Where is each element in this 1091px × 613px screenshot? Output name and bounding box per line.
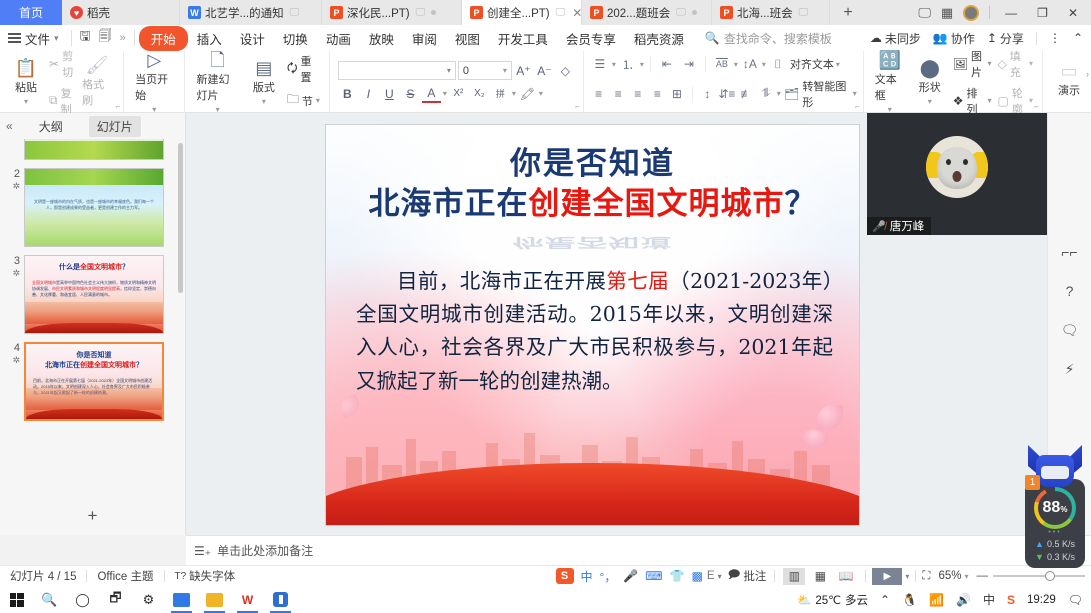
- thumbnail-title: 你是否知道 北海市正在创建全国文明城市？: [26, 350, 162, 370]
- title-reflection: 你是否知道: [326, 234, 859, 253]
- animation-star-icon: ✲: [2, 356, 20, 366]
- sync-status[interactable]: ☁ 未同步: [870, 30, 921, 47]
- body-paragraph: 目前，北海市正在开展第七届（2021-2023年）全国文明城市创建活动。2015…: [356, 265, 833, 398]
- tab-writer-doc[interactable]: W 北艺学...的通知 🖵: [180, 0, 322, 25]
- fit-to-window-button[interactable]: ⛶: [916, 570, 936, 583]
- format-painter-icon: 🖌: [86, 56, 109, 74]
- fill-icon: ◇: [998, 57, 1007, 71]
- chevron-down-icon: ▾: [54, 33, 59, 44]
- thumbnail-item-2[interactable]: 2 ✲ 文明是一座城市的内在气质，也是一座城市的幸福底色。我们每一个人，即是创建…: [0, 164, 185, 251]
- arrange-icon: ❖: [953, 94, 964, 108]
- mascot-visor: [1041, 466, 1069, 479]
- people-icon: 👥: [933, 31, 948, 45]
- font-color-button[interactable]: A: [422, 84, 441, 103]
- tab-ppt-2021[interactable]: P 202...题班会 🖵: [582, 0, 712, 25]
- format-painter-label: 格式刷: [82, 76, 112, 108]
- cut-button[interactable]: ✂ 剪切: [46, 47, 77, 81]
- sync-label: 未同步: [885, 30, 921, 47]
- underline-button[interactable]: U: [380, 84, 399, 103]
- missing-font-label: 缺失字体: [189, 568, 235, 584]
- columns-icon[interactable]: ⊞: [668, 84, 686, 103]
- zoom-level-label[interactable]: 65%▾: [936, 570, 970, 582]
- skyline-art: [25, 302, 163, 324]
- widget-body[interactable]: 88% ••• ▲ 0.5 K/s ▼ 0.3 K/s: [1025, 479, 1085, 568]
- overflow-menu-icon[interactable]: ⋮: [1049, 31, 1061, 45]
- reader-icon[interactable]: [264, 586, 297, 613]
- reset-button[interactable]: 🗘 重置: [284, 52, 323, 86]
- daoke-icon: ♥: [70, 6, 83, 19]
- tab-slideshow[interactable]: 放映: [360, 27, 403, 50]
- quick-action-icon[interactable]: ⚡: [1059, 358, 1081, 380]
- slide-count-label: 幻灯片 4 / 15: [0, 568, 86, 584]
- thumbnail-item-1[interactable]: 1 ✲: [0, 139, 185, 164]
- tab-home[interactable]: 首页: [0, 0, 62, 25]
- weather-desc: 多云: [845, 592, 868, 608]
- wps-ppt-icon: P: [590, 6, 603, 19]
- avatar-eye-right: [963, 159, 968, 165]
- thumbnail-item-4[interactable]: 4 ✲ 你是否知道 北海市正在创建全国文明城市？ 目前，北海市正在开展第七届（2…: [0, 338, 185, 425]
- tab-daoke[interactable]: ♥ 稻壳: [62, 0, 180, 25]
- normal-view-icon[interactable]: ▥: [783, 568, 805, 585]
- new-tab-button[interactable]: +: [830, 0, 866, 25]
- collaborate-button[interactable]: 👥 协作: [933, 30, 975, 47]
- start-icon[interactable]: [0, 586, 33, 613]
- avatar[interactable]: [963, 5, 979, 21]
- paragraph-dialog-launcher[interactable]: ⌐: [855, 102, 860, 111]
- thumbnail-item-3[interactable]: 3 ✲ 什么是全国文明城市？ 全国文明城市是高举中国特色社会主义伟大旗帜，物质文…: [0, 251, 185, 338]
- ime-punctuation-icon[interactable]: °，: [600, 568, 617, 585]
- tab-outline[interactable]: 大纲: [31, 116, 71, 137]
- ribbon-group-font: ▾ 0 ▾ A⁺ A⁻ ◇ B I U S A ▾: [330, 51, 584, 113]
- grid-icon[interactable]: ▦: [941, 5, 953, 21]
- hamburger-icon: [8, 31, 21, 46]
- decor-strip: [25, 169, 163, 185]
- paste-button[interactable]: 📋 粘贴▾: [6, 57, 46, 108]
- restore-button[interactable]: ❐: [1032, 6, 1053, 20]
- fill-label: 填充: [1010, 48, 1026, 80]
- start-from-current-button[interactable]: ▷ 当页开始▾: [130, 49, 178, 116]
- reset-icon: 🗘: [287, 59, 298, 80]
- tab-insert[interactable]: 插入: [188, 27, 231, 50]
- slide-sorter-icon[interactable]: ▦: [809, 568, 831, 585]
- task-view-icon[interactable]: 🗗: [99, 586, 132, 613]
- notes-icon: ☰₊: [194, 544, 211, 558]
- superscript-button[interactable]: X²: [449, 84, 468, 103]
- wps-ppt-icon: P: [720, 6, 733, 19]
- minimize-button[interactable]: —: [1000, 6, 1022, 20]
- section-button[interactable]: 🗀 节 ▾: [284, 89, 323, 112]
- share-label: 分享: [1000, 30, 1024, 47]
- layout-button[interactable]: ▤ 版式▾: [244, 57, 284, 108]
- zoom-knob[interactable]: [1045, 571, 1055, 581]
- missing-font-status[interactable]: T? 缺失字体: [165, 568, 246, 584]
- clear-format-icon[interactable]: ◇: [556, 61, 575, 80]
- spacing-options-icon[interactable]: ⥮: [757, 84, 775, 103]
- meeting-video-panel[interactable]: 🎤̸ 唐万峰 ⌐: [867, 113, 1047, 235]
- decrease-indent-icon[interactable]: ⇤: [657, 55, 677, 74]
- align-right-icon[interactable]: ≡: [629, 84, 647, 103]
- char-spacing-icon[interactable]: ↕A: [740, 55, 760, 74]
- score-value: 88%: [1043, 499, 1068, 517]
- system-tray: ⛅ 25℃ 多云 ⌃ 🐧 📶 🔊 中 S 19:29 🗨: [797, 591, 1091, 608]
- score-ring: 88%: [1034, 487, 1076, 529]
- thumbnail-canvas[interactable]: 文明是一座城市的内在气质，也是一座城市的幸福底色。我们每一个人，即是创建成果的受…: [24, 168, 164, 247]
- ime-icon[interactable]: 中: [983, 591, 995, 608]
- slide-title[interactable]: 你是否知道 北海市正在创建全国文明城市？: [326, 145, 859, 224]
- new-slide-button[interactable]: 🗋 新建幻灯片▾: [191, 49, 243, 116]
- wps-ppt-icon: P: [470, 6, 483, 19]
- search-icon: 🔍: [705, 31, 720, 45]
- thumbnail-number: 4 ✲: [2, 342, 24, 366]
- outline-label: 轮廓: [1012, 85, 1026, 117]
- status-bar-right: S 中 °， 🎤 ⌨ 👕 ▩ E▾ 🗩 批注 ▥ ▦ 📖: [556, 567, 1091, 586]
- restore-down-icon[interactable]: 🖵: [290, 7, 300, 18]
- thumbnail-text: 文明是一座城市的内在气质，也是一座城市的幸福底色。我们每一个人，即是创建成果的受…: [33, 199, 155, 211]
- search-placeholder: 查找命令、搜索模板: [724, 30, 832, 47]
- tab-ppt-beihai-label: 北海...班会: [737, 5, 793, 21]
- sogou-ime-icon[interactable]: S: [556, 568, 574, 584]
- ribbon-group-present-right: ▭ 演示 ›: [1043, 51, 1091, 113]
- mascot-icon: 1: [1027, 445, 1083, 489]
- screens-icon[interactable]: 🖵: [918, 5, 931, 21]
- notes-pane[interactable]: ☰₊ 单击此处添加备注: [186, 535, 1091, 565]
- search-box[interactable]: 🔍 查找命令、搜索模板: [705, 30, 832, 47]
- slide-thumbnail-panel: « 大纲 幻灯片 1 ✲ 2 ✲: [0, 113, 186, 535]
- shape-icon: ⬤: [920, 59, 940, 77]
- title-line-1: 你是否知道: [326, 145, 859, 184]
- tab-design[interactable]: 设计: [231, 27, 274, 50]
- network-speed-widget[interactable]: 1 88% ••• ▲ 0.5 K/s ▼ 0.3 K/s: [1025, 445, 1085, 568]
- window-controls: 🖵 ▦ — ❐ ✕: [918, 0, 1091, 25]
- ribbon-group-present: ▷ 当页开始▾: [124, 51, 185, 113]
- body-part-1: 目前，北海市正在开展: [397, 269, 606, 293]
- upload-arrow-icon: ▲: [1035, 539, 1044, 549]
- thumbnail-list[interactable]: 1 ✲ 2 ✲ 文明是一座城市的内在气质，也是一座城市的幸福底色。我们每一个人，…: [0, 139, 185, 497]
- cortana-icon[interactable]: ◯: [66, 586, 99, 613]
- picture-icon: 🖼: [953, 57, 968, 71]
- tab-daoke-label: 稻壳: [87, 5, 110, 21]
- new-slide-icon: 🗋: [210, 51, 224, 69]
- convert-smartart-label[interactable]: 转智能图形: [802, 78, 850, 110]
- picture-button[interactable]: 🖼 图片▾: [950, 47, 995, 81]
- tab-ppt-beihai[interactable]: P 北海...班会 🖵: [712, 0, 830, 25]
- ribbon: 📋 粘贴▾ ✂ 剪切 ⧉ 复制 🖌 格式刷 ⌐ ▷: [0, 51, 1091, 113]
- text-box-label: 文本框: [875, 71, 905, 103]
- thumbnail-scrollbar[interactable]: [178, 143, 183, 293]
- copy-label: 复制: [61, 85, 75, 117]
- title-line-2-highlight: 创建全国文明城市: [529, 186, 785, 222]
- outline-icon: ▢: [998, 94, 1009, 108]
- weather-widget[interactable]: ⛅ 25℃ 多云: [797, 592, 868, 608]
- upload-rate: ▲ 0.5 K/s: [1029, 539, 1081, 549]
- ribbon-group-insert: 🔠 文本框▾ ⬤ 形状▾ 🖼 图片▾ ❖ 排列▾ ◇: [864, 51, 1043, 113]
- ime-toolbar[interactable]: S 中 °， 🎤 ⌨ 👕 ▩: [556, 568, 703, 585]
- save-icon[interactable]: 🖫: [76, 27, 95, 49]
- reading-view-icon[interactable]: 📖: [835, 568, 857, 585]
- file-menu-button[interactable]: 文件 ▾: [0, 29, 67, 48]
- title-line-2: 北海市正在创建全国文明城市？: [326, 184, 859, 224]
- align-left-icon[interactable]: ≡: [590, 84, 608, 103]
- avatar-mouth: [953, 171, 962, 182]
- cloud-icon: ⛅: [797, 593, 811, 607]
- feedback-icon[interactable]: 🗨: [1059, 319, 1081, 341]
- present-label: 演示: [1058, 82, 1080, 98]
- ribbon-group-paragraph: ☰▾ ⒈▾ ⇤ ⇥ AB ▾ ↕A▾ ⌷ 对齐文本 ▾ ≡ ≡ ≡: [584, 51, 864, 113]
- tab-member[interactable]: 会员专享: [557, 27, 625, 50]
- red-banner-art: [26, 409, 162, 419]
- tab-animation[interactable]: 动画: [317, 27, 360, 50]
- avatar-eye-left: [946, 159, 951, 165]
- bold-button[interactable]: B: [338, 84, 357, 103]
- print-preview-icon[interactable]: 🗐: [95, 27, 116, 49]
- file-menu-label: 文件: [25, 29, 50, 48]
- participant-name-badge: 🎤̸ 唐万峰: [867, 217, 931, 235]
- paste-icon: 📋: [15, 59, 37, 77]
- close-button[interactable]: ✕: [1063, 6, 1083, 20]
- text-box-icon: 🔠: [879, 51, 901, 69]
- file-explorer-icon[interactable]: [198, 586, 231, 613]
- section-label: 节: [302, 93, 313, 109]
- weather-temp: 25℃: [815, 593, 841, 607]
- font-name-input[interactable]: ▾: [338, 61, 456, 80]
- paragraph-spacing-icon[interactable]: ⇵≡: [718, 84, 736, 103]
- comment-button[interactable]: 🗩 批注: [726, 567, 775, 586]
- current-slide[interactable]: 你是否知道 你是否知道 北海市正在创建全国文明城市？ 目前，北海市正在开展第七届…: [326, 125, 859, 525]
- font-dialog-launcher[interactable]: ⌐: [575, 102, 580, 111]
- font-size-input[interactable]: 0 ▾: [458, 61, 512, 80]
- thumbnail-number: 3 ✲: [2, 255, 24, 279]
- font-size-value: 0: [463, 65, 469, 77]
- restore-down-icon[interactable]: 🖵: [416, 7, 426, 18]
- settings-icon[interactable]: ⚙: [132, 586, 165, 613]
- participant-avatar: [926, 136, 988, 198]
- windows-logo-icon: [10, 593, 24, 607]
- ime-keyboard-icon[interactable]: ⌨: [645, 569, 662, 583]
- section-icon: 🗀: [287, 90, 299, 111]
- close-icon[interactable]: ✕: [572, 6, 582, 20]
- convert-smartart-icon[interactable]: 🗂: [783, 84, 801, 103]
- comment-label: 批注: [743, 568, 766, 584]
- increase-font-size-icon[interactable]: A⁺: [514, 61, 533, 80]
- present-icon: ▭: [1060, 62, 1077, 80]
- participant-name: 唐万峰: [890, 218, 925, 234]
- layout-label: 版式: [253, 79, 275, 95]
- shape-label: 形状: [919, 79, 941, 95]
- format-painter-button[interactable]: 🖌 格式刷: [77, 54, 117, 110]
- increase-indent-icon[interactable]: ⇥: [679, 55, 699, 74]
- notification-badge[interactable]: 1: [1025, 475, 1040, 490]
- highlight-button[interactable]: 🖍: [518, 84, 537, 103]
- insert-dialog-launcher[interactable]: ⌐: [1034, 102, 1039, 111]
- tab-home-label: 首页: [19, 4, 43, 21]
- widget-dots: •••: [1029, 529, 1081, 536]
- red-banner-art: [25, 323, 163, 333]
- zoom-out-button[interactable]: —: [977, 570, 989, 582]
- unsaved-dot-icon: [692, 10, 697, 15]
- windows-taskbar: 🔍 ◯ 🗗 ⚙ W ⛅ 25℃ 多云 ⌃ 🐧 📶 🔊 中 S 19:29 🗨: [0, 586, 1091, 613]
- clipboard-dialog-launcher[interactable]: ⌐: [115, 102, 120, 111]
- title-line-2-plain: 北海市正在: [369, 186, 529, 222]
- more-icon[interactable]: »: [116, 32, 130, 44]
- panel-header: « 大纲 幻灯片: [0, 113, 185, 139]
- ime-apps-icon[interactable]: ▩: [692, 569, 703, 583]
- tab-transition[interactable]: 切换: [274, 27, 317, 50]
- thumbnail-canvas[interactable]: 什么是全国文明城市？ 全国文明城市是高举中国特色社会主义伟大旗帜，物质文明和精神…: [24, 255, 164, 334]
- photos-icon[interactable]: [165, 586, 198, 613]
- increase-spacing-icon[interactable]: ≢: [738, 84, 756, 103]
- tab-review[interactable]: 审阅: [403, 27, 446, 50]
- tab-ppt-shenhua-label: 深化民...PT): [347, 5, 410, 21]
- mascot-face: [1036, 455, 1074, 487]
- skyline-art: [26, 388, 162, 410]
- theme-label[interactable]: Office 主题: [87, 568, 163, 584]
- restore-down-icon[interactable]: 🖵: [799, 7, 809, 18]
- layout-icon: ▤: [255, 59, 272, 77]
- italic-button[interactable]: I: [359, 84, 378, 103]
- slideshow-options-icon[interactable]: ▾: [905, 572, 909, 581]
- wps-writer-icon: W: [188, 6, 201, 19]
- tray-expand-icon[interactable]: ⌃: [880, 593, 890, 607]
- volume-icon[interactable]: 🔊: [956, 593, 971, 607]
- arrange-label: 排列: [967, 85, 985, 117]
- present-button[interactable]: ▭ 演示: [1049, 60, 1089, 104]
- pinyin-guide-button[interactable]: 拼: [491, 84, 510, 103]
- zoom-slider[interactable]: —: [971, 570, 1091, 582]
- tab-writer-doc-label: 北艺学...的通知: [205, 5, 284, 21]
- collapse-panel-icon[interactable]: «: [6, 119, 13, 133]
- download-rate: ▼ 0.3 K/s: [1029, 552, 1081, 562]
- document-tab-bar: 首页 ♥ 稻壳 W 北艺学...的通知 🖵 P 深化民...PT) 🖵 P 创建…: [0, 0, 1091, 25]
- status-bar: 幻灯片 4 / 15 Office 主题 T? 缺失字体 S 中 °， 🎤 ⌨ …: [0, 565, 1091, 586]
- wps-presentation-window: 首页 ♥ 稻壳 W 北艺学...的通知 🖵 P 深化民...PT) 🖵 P 创建…: [0, 0, 1091, 613]
- notification-icon[interactable]: 🗨: [1068, 593, 1083, 607]
- add-slide-button[interactable]: +: [0, 497, 185, 535]
- upload-rate-value: 0.5 K/s: [1047, 539, 1075, 549]
- tab-developer[interactable]: 开发工具: [489, 27, 557, 50]
- tab-daoke-resources[interactable]: 稻壳资源: [625, 27, 693, 50]
- share-icon: ↥: [987, 31, 997, 45]
- align-text-icon[interactable]: ⌷: [768, 55, 788, 74]
- subscript-button[interactable]: X₂: [470, 84, 489, 103]
- slide-body-text[interactable]: 目前，北海市正在开展第七届（2021-2023年）全国文明城市创建活动。2015…: [356, 265, 833, 398]
- download-arrow-icon: ▼: [1035, 552, 1044, 562]
- restore-down-icon[interactable]: 🖵: [676, 7, 686, 18]
- wifi-icon[interactable]: 📶: [929, 593, 944, 607]
- thumbnail-number: 2 ✲: [2, 168, 24, 192]
- comment-icon: 🗩: [728, 567, 741, 586]
- scissors-icon: ✂: [49, 57, 59, 71]
- collapse-ribbon-icon[interactable]: ⌃: [1073, 31, 1083, 45]
- tab-ppt-chuangjian[interactable]: P 创建全...PT) 🖵 ✕: [462, 0, 582, 25]
- fill-button[interactable]: ◇ 填充▾: [995, 47, 1036, 81]
- mic-muted-icon: 🎤̸: [872, 220, 886, 233]
- body-highlight: 第七届: [606, 269, 669, 293]
- cloud-icon: ☁: [870, 31, 882, 45]
- align-text-label[interactable]: 对齐文本: [790, 56, 834, 72]
- ribbon-group-slides: 🗋 新建幻灯片▾ ▤ 版式▾ 🗘 重置 🗀 节 ▾: [185, 51, 329, 113]
- new-slide-label: 新建幻灯片: [196, 71, 238, 103]
- ribbon-tab-bar: 文件 ▾ 🖫 🗐 » 开始 插入 设计 切换 动画 放映 审阅 视图 开发工具 …: [0, 25, 1091, 51]
- tab-view[interactable]: 视图: [446, 27, 489, 50]
- animation-star-icon: ✲: [2, 269, 20, 279]
- wps-ppt-icon: P: [330, 6, 343, 19]
- tab-slides[interactable]: 幻灯片: [89, 116, 141, 137]
- menubar-right-actions: ☁ 未同步 👥 协作 ↥ 分享 ⋮ ⌃: [870, 30, 1091, 47]
- help-icon[interactable]: ?: [1059, 280, 1081, 302]
- clock-time[interactable]: 19:29: [1027, 594, 1056, 606]
- tab-ppt-chuangjian-label: 创建全...PT): [487, 5, 550, 21]
- sogou-icon[interactable]: S: [1007, 593, 1015, 607]
- ime-mic-icon[interactable]: 🎤: [623, 569, 638, 583]
- missing-font-icon: T?: [175, 571, 187, 582]
- layout-reset-icon[interactable]: ⌐⌐: [1059, 241, 1081, 263]
- thumbnail-text: 全国文明城市是高举中国特色社会主义伟大旗帜，物质文明和精神文明协调发展、市民文明…: [32, 280, 156, 299]
- zoom-track[interactable]: [993, 575, 1085, 577]
- start-here-label: 当页开始: [135, 71, 173, 103]
- line-spacing-icon[interactable]: ↕: [699, 84, 717, 103]
- ime-skin-icon[interactable]: 👕: [670, 569, 685, 583]
- language-indicator[interactable]: E▾: [703, 570, 726, 582]
- ribbon-more-icon[interactable]: ›: [1086, 69, 1089, 79]
- download-rate-value: 0.3 K/s: [1047, 552, 1075, 562]
- paste-label: 粘贴: [15, 79, 37, 95]
- title-question-mark: ？: [785, 186, 817, 222]
- shape-button[interactable]: ⬤ 形状▾: [910, 57, 950, 108]
- numbered-list-icon[interactable]: ⒈: [618, 55, 638, 74]
- collab-label: 协作: [951, 30, 975, 47]
- qq-icon[interactable]: 🐧: [902, 593, 917, 607]
- notes-placeholder: 单击此处添加备注: [217, 542, 313, 559]
- search-icon[interactable]: 🔍: [33, 586, 66, 613]
- play-circle-icon: ▷: [147, 51, 161, 69]
- copy-icon: ⧉: [49, 93, 58, 108]
- thumbnail-canvas[interactable]: [24, 139, 164, 160]
- text-box-button[interactable]: 🔠 文本框▾: [870, 49, 910, 116]
- animation-star-icon: ✲: [2, 182, 20, 192]
- justify-icon[interactable]: ≡: [649, 84, 667, 103]
- picture-label: 图片: [971, 48, 985, 80]
- restore-down-icon[interactable]: 🖵: [556, 7, 566, 18]
- thumbnail-title: 什么是全国文明城市？: [25, 262, 163, 272]
- unsaved-dot-icon: [431, 10, 436, 15]
- wps-icon[interactable]: W: [231, 586, 264, 613]
- tab-ppt-shenhua[interactable]: P 深化民...PT) 🖵: [322, 0, 462, 25]
- align-center-icon[interactable]: ≡: [609, 84, 627, 103]
- cut-label: 剪切: [62, 48, 74, 80]
- ribbon-group-clipboard: 📋 粘贴▾ ✂ 剪切 ⧉ 复制 🖌 格式刷 ⌐: [0, 51, 124, 113]
- text-direction-icon[interactable]: AB: [712, 55, 732, 74]
- tab-start[interactable]: 开始: [139, 26, 188, 51]
- decrease-font-size-icon[interactable]: A⁻: [535, 61, 554, 80]
- share-button[interactable]: ↥ 分享: [987, 30, 1024, 47]
- tab-ppt-2021-label: 202...题班会: [607, 5, 670, 21]
- avatar-face: [937, 147, 977, 189]
- start-slideshow-button[interactable]: ▶: [872, 568, 902, 585]
- strikethrough-button[interactable]: S: [401, 84, 420, 103]
- ime-mode-label[interactable]: 中: [581, 568, 593, 585]
- reset-label: 重置: [301, 53, 320, 85]
- bullet-list-icon[interactable]: ☰: [590, 55, 610, 74]
- thumbnail-canvas-selected[interactable]: 你是否知道 北海市正在创建全国文明城市？ 目前，北海市正在开展第七届（2021-…: [24, 342, 164, 421]
